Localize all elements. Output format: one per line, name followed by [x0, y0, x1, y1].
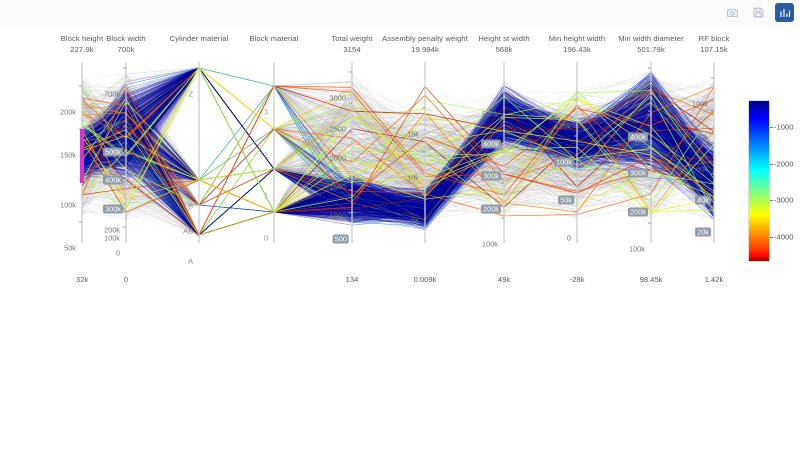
- axis-max-value: 568k: [478, 45, 529, 56]
- axis-max-value: 107.15k: [699, 45, 730, 56]
- axis-caption-2[interactable]: Cylinder material: [170, 34, 229, 45]
- axis-tick-label: 400k: [103, 176, 123, 185]
- axis-min-value: 0.009k: [414, 275, 437, 284]
- axis-min-value: 98.45k: [640, 275, 663, 284]
- axis-tick-label: 150k: [555, 122, 574, 131]
- axis-tick-label: 0: [264, 234, 271, 243]
- axis-max-value: 227.9k: [61, 45, 104, 56]
- axis-max-value: 3154: [331, 45, 372, 56]
- axis-tick-label: 400k: [481, 140, 501, 149]
- axis-tick-label: 20k: [695, 228, 711, 237]
- axis-caption-6[interactable]: Height st width568k: [478, 34, 529, 55]
- axis-tick-label: 150k: [60, 151, 79, 160]
- axis-max-value: 196.43k: [549, 45, 605, 56]
- axis-tick-label: 300k: [628, 169, 648, 178]
- axis-tick-label: 500k: [482, 110, 501, 119]
- axis-caption-3[interactable]: Block material: [249, 34, 298, 45]
- axis-tick-label: 60k: [696, 165, 711, 174]
- axis-tick-label: 100k: [692, 100, 711, 109]
- axis-title: Block height: [61, 34, 104, 45]
- axis-tick-label: 100k: [554, 158, 574, 167]
- axis-tick-label: 10k: [407, 174, 422, 183]
- axis-tick-label: 500k: [103, 148, 123, 157]
- chart-icon[interactable]: [775, 3, 794, 22]
- axis-title: Block width: [106, 34, 146, 45]
- axis-caption-0[interactable]: Block height227.9k: [61, 34, 104, 55]
- axis-tick-label: 200k: [481, 205, 501, 214]
- toolbar: [723, 3, 794, 22]
- axis-caption-7[interactable]: Min height width196.43k: [549, 34, 605, 55]
- axis-tick-label: 200k: [60, 108, 79, 117]
- axis-min-value: -28k: [570, 275, 585, 284]
- axis-tick-label: A: [188, 257, 196, 266]
- colorbar-tick-label: -1000: [774, 122, 793, 131]
- axis-caption-1[interactable]: Block width700k: [106, 34, 146, 55]
- axis-max-value: 501.79k: [618, 45, 684, 56]
- axis-caption-9[interactable]: RF block107.15k: [699, 34, 730, 55]
- axis-title: RF block: [699, 34, 730, 45]
- colorbar-tick-label: -3000: [774, 196, 793, 205]
- axis-title: Block material: [249, 34, 298, 45]
- axis-tick-label: 100k: [104, 234, 123, 243]
- axis-title: Min width diameter: [618, 34, 684, 45]
- axis-tick-label: 500: [333, 235, 349, 244]
- parallel-coordinates-app: Block height227.9k200k150k100k50k32kBloc…: [0, 0, 800, 450]
- axis-tick-label: 15k: [407, 130, 422, 139]
- axis-tick-label: 600k: [104, 122, 123, 131]
- axis-caption-8[interactable]: Min width diameter501.79k: [618, 34, 684, 55]
- colorbar-tick-label: -2000: [774, 159, 793, 168]
- axis-tick-label: 100k: [482, 240, 501, 249]
- axis-tick-label: 2: [264, 151, 271, 160]
- axis-tick-label: 300k: [103, 205, 123, 214]
- save-icon[interactable]: [749, 3, 768, 22]
- top-toolbar-bar: [0, 0, 800, 27]
- axis-tick-label: 0: [116, 249, 123, 258]
- plot-canvas: Block height227.9k200k150k100k50k32kBloc…: [0, 26, 800, 450]
- axis-tick-label: 5k: [411, 216, 422, 225]
- axis-tick-label: 300k: [481, 172, 501, 181]
- axis-min-value: 1.42k: [705, 275, 724, 284]
- axis-tick-label: B: [188, 202, 196, 211]
- axis-tick-label: 100k: [60, 201, 79, 210]
- axis-tick-label: 400k: [628, 133, 648, 142]
- axis-tick-label: 2000: [330, 154, 349, 163]
- axis-tick-label: 3: [264, 108, 271, 117]
- axis-tick-label: 2500: [330, 125, 349, 134]
- axis-tick-label: 40k: [695, 196, 711, 205]
- axis-tick-label: 50k: [558, 196, 574, 205]
- axis-tick-label: 3000: [330, 94, 349, 103]
- axis-caption-4[interactable]: Total weight3154: [331, 34, 372, 55]
- axis-title: Min height width: [549, 34, 605, 45]
- axis-title: Assembly penalty weight: [382, 34, 468, 45]
- colorbar[interactable]: [748, 100, 770, 262]
- axis-tick-label: 80k: [696, 133, 711, 142]
- axis-tick-label: 1500: [330, 183, 349, 192]
- axis-tick-label: 700k: [104, 90, 123, 99]
- camera-icon[interactable]: [723, 3, 742, 22]
- axis-max-value: 700k: [106, 45, 146, 56]
- colorbar-tick-label: -4000: [774, 233, 793, 242]
- axis-min-value: 0: [124, 275, 128, 284]
- axis-tick-label: 50k: [64, 244, 79, 253]
- axis-title: Total weight: [331, 34, 372, 45]
- axis-tick-label: AB: [183, 227, 196, 236]
- axis-tick-label: 500k: [629, 90, 648, 99]
- axis-tick-label: 100k: [629, 245, 648, 254]
- axis-min-value: 134: [346, 275, 359, 284]
- axis-title: Cylinder material: [170, 34, 229, 45]
- axis-tick-label: 200k: [628, 208, 648, 217]
- axis-tick-label: 1: [264, 191, 271, 200]
- axis-caption-5[interactable]: Assembly penalty weight19.984k: [382, 34, 468, 55]
- axis-tick-label: 1000: [330, 212, 349, 221]
- axis-tick-label: Z: [188, 90, 196, 99]
- axis-min-value: 49k: [498, 275, 510, 284]
- axis-tick-label: 0: [567, 234, 574, 243]
- axis-max-value: 19.984k: [382, 45, 468, 56]
- axis-min-value: 32k: [76, 275, 88, 284]
- axis-title: Height st width: [478, 34, 529, 45]
